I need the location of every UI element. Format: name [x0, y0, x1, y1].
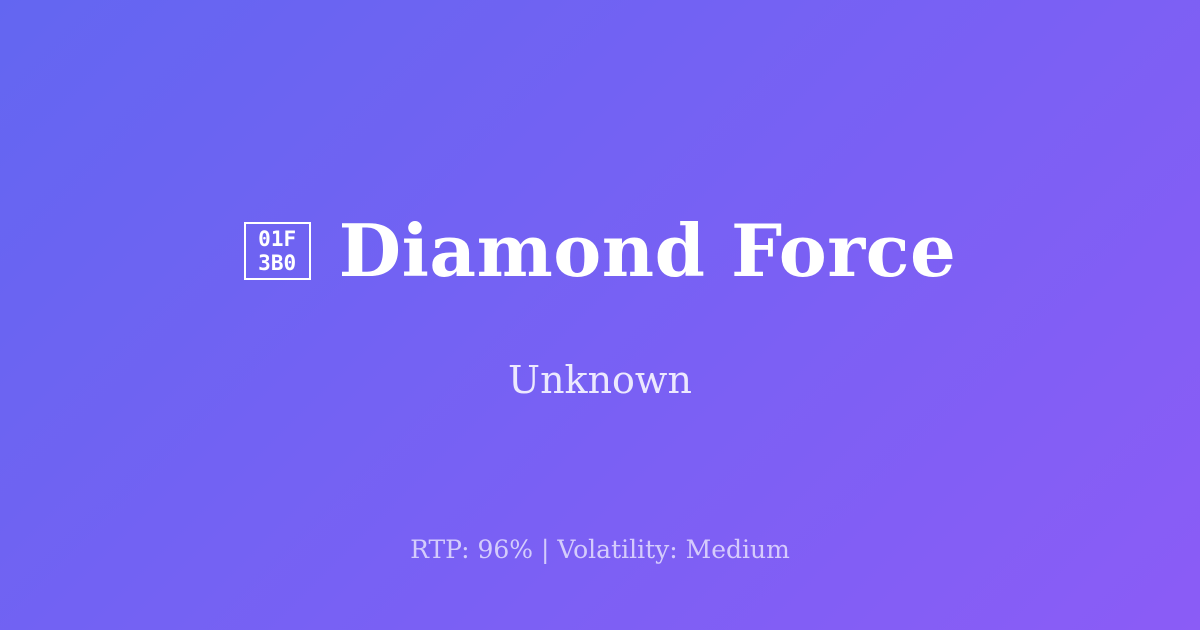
card-subtitle: Unknown [508, 361, 692, 399]
hero-block: 01F 3B0 Diamond Force Unknown [244, 215, 957, 399]
tofu-hex-bottom: 3B0 [258, 251, 296, 275]
title-row: 01F 3B0 Diamond Force [244, 215, 957, 287]
og-card: 01F 3B0 Diamond Force Unknown RTP: 96% |… [0, 0, 1200, 630]
card-footer: RTP: 96% | Volatility: Medium [0, 537, 1200, 562]
game-meta-line: RTP: 96% | Volatility: Medium [0, 537, 1200, 562]
page-title: Diamond Force [339, 215, 957, 287]
slot-machine-icon: 01F 3B0 [244, 222, 311, 280]
tofu-hex-top: 01F [258, 227, 296, 251]
